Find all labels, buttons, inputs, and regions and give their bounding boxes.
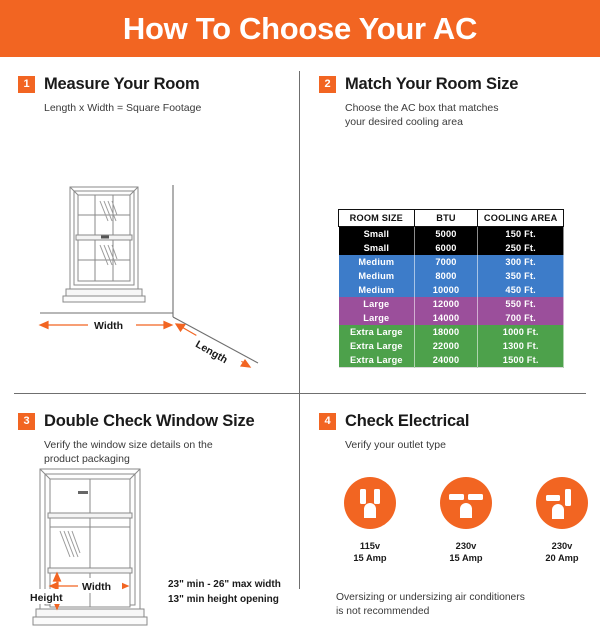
cell-size: Large (339, 297, 415, 311)
step-4-number-badge: 4 (319, 413, 336, 430)
cell-btu: 24000 (414, 353, 478, 368)
cell-area: 150 Ft. (478, 227, 564, 242)
cell-btu: 7000 (414, 255, 478, 269)
outlet-amperage-3: 20 Amp (534, 552, 590, 564)
cell-area: 700 Ft. (478, 311, 564, 325)
step-2-subtitle: Choose the AC box that matchesyour desir… (345, 101, 600, 129)
cell-area: 1000 Ft. (478, 325, 564, 339)
table-row: Extra Large180001000 Ft. (339, 325, 564, 339)
step-4-footnote: Oversizing or undersizing air conditione… (336, 591, 581, 619)
outlet-type-list: 115v 15 Amp 230v 15 Amp (330, 475, 600, 564)
step-1-title: Measure Your Room (44, 75, 200, 94)
cell-btu: 18000 (414, 325, 478, 339)
table-row: Large12000550 Ft. (339, 297, 564, 311)
page-header: How To Choose Your AC (0, 0, 600, 57)
cell-area: 1300 Ft. (478, 339, 564, 353)
height-label-3: Height (30, 592, 63, 604)
step-2-header: 2 Match Your Room Size (300, 57, 600, 94)
outlet-amperage-1: 15 Amp (342, 552, 398, 564)
outlet-caption-2: 230v 15 Amp (438, 540, 494, 564)
outlet-230v-20amp-icon (534, 475, 590, 531)
cell-size: Extra Large (339, 353, 415, 368)
cell-size: Small (339, 241, 415, 255)
infographic-page: How To Choose Your AC 1 Measure Your Roo… (0, 0, 600, 600)
cell-btu: 10000 (414, 283, 478, 297)
cell-size: Large (339, 311, 415, 325)
outlet-caption-3: 230v 20 Amp (534, 540, 590, 564)
page-title: How To Choose Your AC (123, 11, 477, 47)
width-label-3: Width (82, 581, 111, 593)
cell-area: 250 Ft. (478, 241, 564, 255)
step-1-panel: 1 Measure Your Room Length x Width = Squ… (0, 57, 299, 393)
cell-btu: 6000 (414, 241, 478, 255)
cell-area: 1500 Ft. (478, 353, 564, 368)
table-row: Medium7000300 Ft. (339, 255, 564, 269)
cell-size: Medium (339, 269, 415, 283)
step-1-header: 1 Measure Your Room (0, 57, 299, 94)
cell-btu: 14000 (414, 311, 478, 325)
step-2-number-badge: 2 (319, 76, 336, 93)
btu-sizing-table: ROOM SIZE BTU COOLING AREA Small5000150 … (338, 209, 564, 368)
table-body: Small5000150 Ft.Small6000250 Ft.Medium70… (339, 227, 564, 368)
outlet-option-115v-15amp[interactable]: 115v 15 Amp (342, 475, 398, 564)
outlet-voltage-2: 230v (438, 540, 494, 552)
step-1-number-badge: 1 (18, 76, 35, 93)
step-2-title: Match Your Room Size (345, 75, 518, 94)
btu-table-wrapper: ROOM SIZE BTU COOLING AREA Small5000150 … (338, 209, 564, 368)
table-row: Large14000700 Ft. (339, 311, 564, 325)
outlet-option-230v-20amp[interactable]: 230v 20 Amp (534, 475, 590, 564)
steps-grid: 1 Measure Your Room Length x Width = Squ… (0, 57, 600, 600)
cell-area: 450 Ft. (478, 283, 564, 297)
table-row: Medium10000450 Ft. (339, 283, 564, 297)
cell-btu: 5000 (414, 227, 478, 242)
cell-area: 300 Ft. (478, 255, 564, 269)
window-dimension-notes: 23" min - 26" max width 13" min height o… (168, 577, 281, 607)
step-1-subtitle: Length x Width = Square Footage (44, 101, 299, 115)
table-row: Extra Large220001300 Ft. (339, 339, 564, 353)
outlet-voltage-3: 230v (534, 540, 590, 552)
outlet-caption-1: 115v 15 Amp (342, 540, 398, 564)
table-row: Medium8000350 Ft. (339, 269, 564, 283)
step-4-subtitle: Verify your outlet type (345, 438, 600, 452)
cell-size: Extra Large (339, 339, 415, 353)
outlet-voltage-1: 115v (342, 540, 398, 552)
cell-btu: 8000 (414, 269, 478, 283)
cell-area: 550 Ft. (478, 297, 564, 311)
step-3-number-badge: 3 (18, 413, 35, 430)
cell-size: Small (339, 227, 415, 242)
table-header-row: ROOM SIZE BTU COOLING AREA (339, 210, 564, 227)
table-row: Small5000150 Ft. (339, 227, 564, 242)
width-label-1: Width (94, 320, 123, 332)
outlet-230v-15amp-icon (438, 475, 494, 531)
step-4-header: 4 Check Electrical (300, 394, 600, 431)
outlet-115v-15amp-icon (342, 475, 398, 531)
window-dimension-width: 23" min - 26" max width (168, 577, 281, 592)
column-header-room-size: ROOM SIZE (339, 210, 415, 227)
table-row: Extra Large240001500 Ft. (339, 353, 564, 368)
step-3-title: Double Check Window Size (44, 412, 255, 431)
step-4-title: Check Electrical (345, 412, 469, 431)
table-row: Small6000250 Ft. (339, 241, 564, 255)
cell-size: Medium (339, 255, 415, 269)
column-header-cooling-area: COOLING AREA (478, 210, 564, 227)
step-3-subtitle: Verify the window size details on thepro… (44, 438, 299, 466)
cell-area: 350 Ft. (478, 269, 564, 283)
cell-btu: 22000 (414, 339, 478, 353)
step-3-header: 3 Double Check Window Size (0, 394, 299, 431)
cell-size: Extra Large (339, 325, 415, 339)
outlet-option-230v-15amp[interactable]: 230v 15 Amp (438, 475, 494, 564)
cell-size: Medium (339, 283, 415, 297)
outlet-amperage-2: 15 Amp (438, 552, 494, 564)
room-measurement-diagram: Width Length (18, 185, 290, 375)
window-size-diagram: Width Height (26, 465, 166, 635)
column-header-btu: BTU (414, 210, 478, 227)
cell-btu: 12000 (414, 297, 478, 311)
